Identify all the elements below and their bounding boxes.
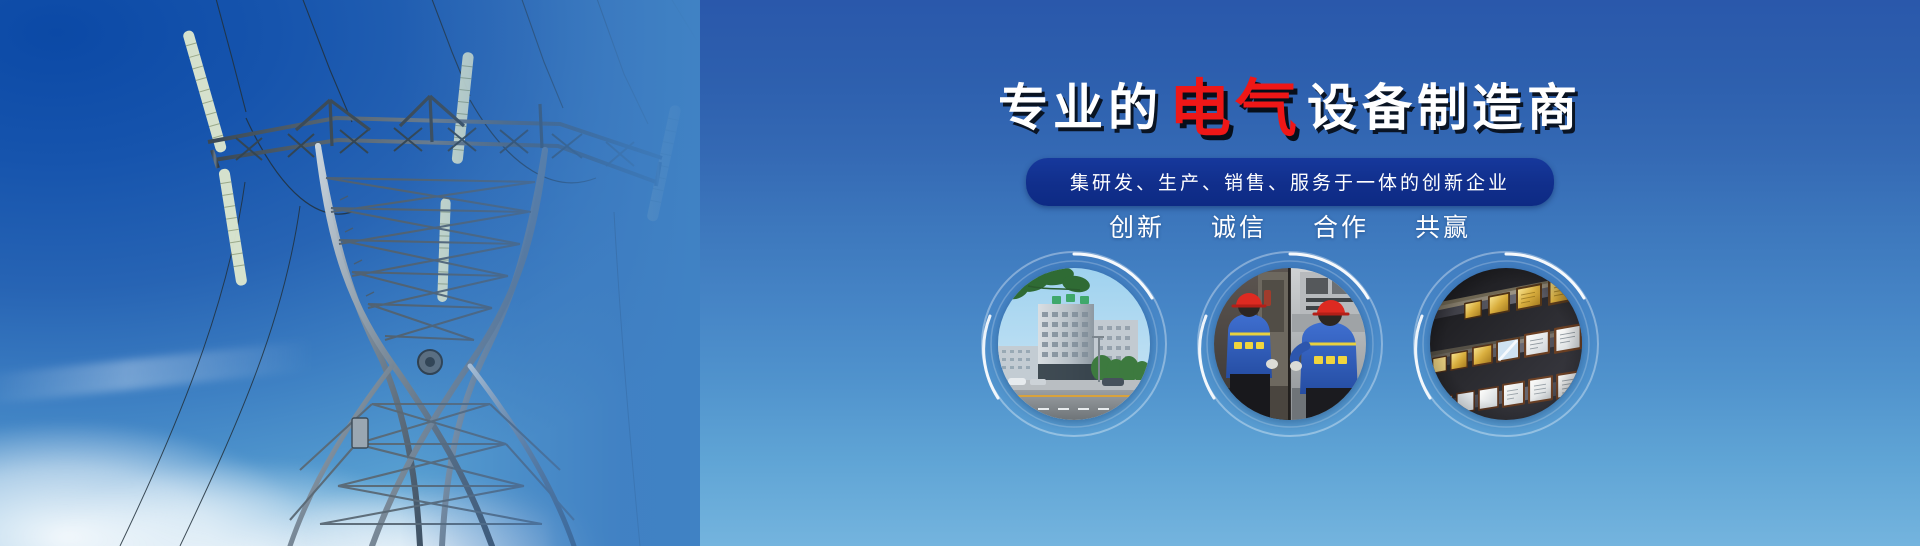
office-building-image [998, 268, 1150, 420]
photo-circle-row: 公司办公大楼 [660, 258, 1920, 430]
transmission-tower-photo: 高压输电铁塔 [0, 0, 700, 546]
headline-part-1: 专业的 [998, 80, 1163, 136]
photo-circle-workers: 技术人员现场安装调试 [1204, 258, 1376, 430]
headline-part-2: 设备制造商 [1307, 80, 1582, 136]
workers-installing-icon [1214, 268, 1366, 420]
photo-edge-fade [400, 0, 700, 546]
certificate-wall-icon [1430, 268, 1582, 420]
office-building-icon [998, 268, 1150, 420]
keyword-innovation: 创新 [1109, 208, 1165, 244]
photo-circle-office-building: 公司办公大楼 [988, 258, 1160, 430]
certificate-wall-image [1430, 268, 1582, 420]
promo-banner: 高压输电铁塔 专业的电气设备制造商 集研发、生产、销售、服务于一体的创新企业 创… [0, 0, 1920, 546]
headline-highlight: 电气 [1169, 75, 1301, 144]
keyword-integrity: 诚信 [1211, 208, 1267, 244]
keyword-win-win: 共赢 [1415, 208, 1471, 244]
keyword-cooperation: 合作 [1313, 208, 1369, 244]
headline: 专业的电气设备制造商 [660, 74, 1920, 136]
subtitle-pill: 集研发、生产、销售、服务于一体的创新企业 [1026, 158, 1554, 206]
subtitle-pill-wrapper: 集研发、生产、销售、服务于一体的创新企业 [660, 158, 1920, 206]
keyword-row: 创新 诚信 合作 共赢 [660, 208, 1920, 244]
photo-circle-certificates: 荣誉证书墙 [1420, 258, 1592, 430]
content-column: 专业的电气设备制造商 集研发、生产、销售、服务于一体的创新企业 创新 诚信 合作… [660, 0, 1920, 546]
workers-image [1214, 268, 1366, 420]
